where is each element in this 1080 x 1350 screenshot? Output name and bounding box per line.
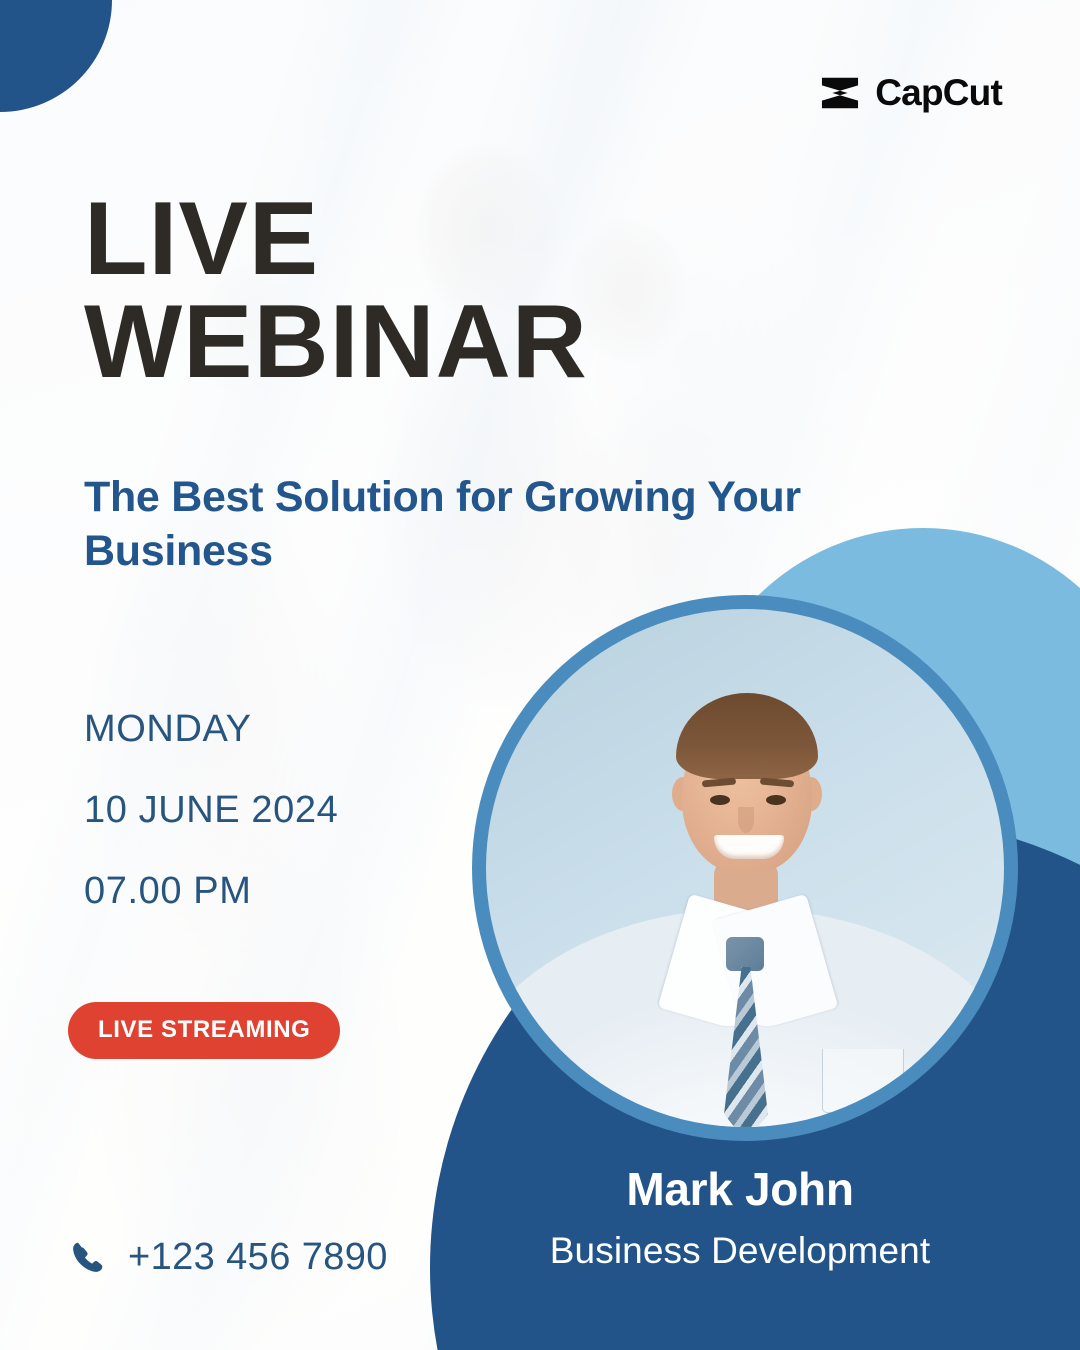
page-title: LIVE WEBINAR <box>84 188 724 394</box>
capcut-bowtie-icon <box>819 74 861 112</box>
capcut-logo-text: CapCut <box>875 72 1002 114</box>
speaker-photo <box>486 609 1004 1127</box>
speaker-role: Business Development <box>455 1230 1025 1272</box>
capcut-logo[interactable]: CapCut <box>819 72 1002 114</box>
schedule-time: 07.00 PM <box>84 870 338 913</box>
speaker-info: Mark John Business Development <box>455 1162 1025 1272</box>
subtitle: The Best Solution for Growing Your Busin… <box>84 470 854 578</box>
schedule-day: MONDAY <box>84 708 338 751</box>
phone-number: +123 456 7890 <box>128 1236 388 1279</box>
title-line-1: LIVE <box>84 181 319 297</box>
schedule-date: 10 JUNE 2024 <box>84 789 338 832</box>
schedule-block: MONDAY 10 JUNE 2024 07.00 PM <box>84 708 338 951</box>
portrait-ring <box>472 595 1018 1141</box>
phone-icon <box>70 1240 106 1276</box>
live-streaming-badge[interactable]: LIVE STREAMING <box>68 1002 340 1059</box>
title-line-2: WEBINAR <box>84 291 724 394</box>
contact-phone[interactable]: +123 456 7890 <box>70 1236 388 1279</box>
speaker-name: Mark John <box>455 1162 1025 1216</box>
webinar-poster: CapCut LIVE WEBINAR The Best Solution fo… <box>0 0 1080 1350</box>
portrait-illustration <box>486 609 1004 1127</box>
